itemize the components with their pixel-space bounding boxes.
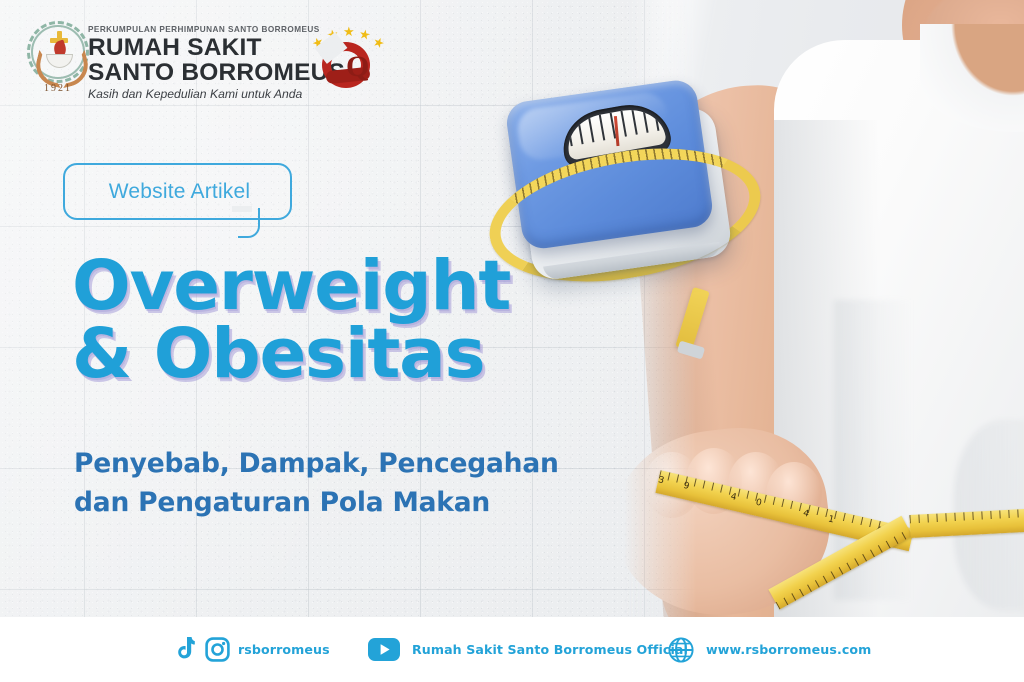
tiktok-icon[interactable] [173,637,196,662]
footer-item-social[interactable]: rsborromeus [173,637,330,662]
kars-letter: Q [346,52,359,82]
youtube-icon[interactable] [368,638,400,661]
globe-icon[interactable] [668,637,694,663]
kars-star: ★ [358,27,372,42]
speech-bubble-tail [238,208,260,238]
header: 1921 PERKUMPULAN PERHIMPUNAN SANTO BORRO… [0,0,1024,110]
hospital-tagline: Kasih dan Kepedulian Kami untuk Anda [88,86,345,102]
article-poster: 39 40 41 42 43 44 45 [0,0,1024,682]
footer-bar: rsborromeus Rumah Sakit Santo Borromeus … [0,617,1024,682]
speech-bubble-tail-mask [232,206,252,212]
crest-year: 1921 [27,83,89,94]
social-handle-label: rsborromeus [238,642,330,657]
footer-item-youtube[interactable]: Rumah Sakit Santo Borromeus Official [368,638,688,661]
subtitle-line2: dan Pengaturan Pola Makan [74,483,674,522]
hospital-wordmark: PERKUMPULAN PERHIMPUNAN SANTO BORROMEUS … [88,24,345,102]
kars-star: ★ [371,34,387,50]
footer-item-website[interactable]: www.rsborromeus.com [668,637,871,663]
subtitle-line1: Penyebab, Dampak, Pencegahan [74,444,674,483]
tape-ticks [909,509,1024,538]
tape-right-segment [909,509,1024,538]
website-url-label: www.rsborromeus.com [706,642,871,657]
page-subtitle: Penyebab, Dampak, Pencegahan dan Pengatu… [74,444,674,522]
kars-paripurna-icon: ★ ★ ★ ★ ★ Q [310,26,384,88]
youtube-channel-label: Rumah Sakit Santo Borromeus Official [412,642,688,657]
page-title: Overweight & Obesitas [72,252,632,389]
hospital-name-line1: RUMAH SAKIT [88,35,345,60]
kars-star: ★ [343,25,355,38]
hospital-name-line2: SANTO BORROMEUS [88,60,345,85]
instagram-icon[interactable] [205,637,230,662]
borromeus-crest-icon: 1921 [27,21,89,97]
title-line2: & Obesitas [72,320,632,388]
